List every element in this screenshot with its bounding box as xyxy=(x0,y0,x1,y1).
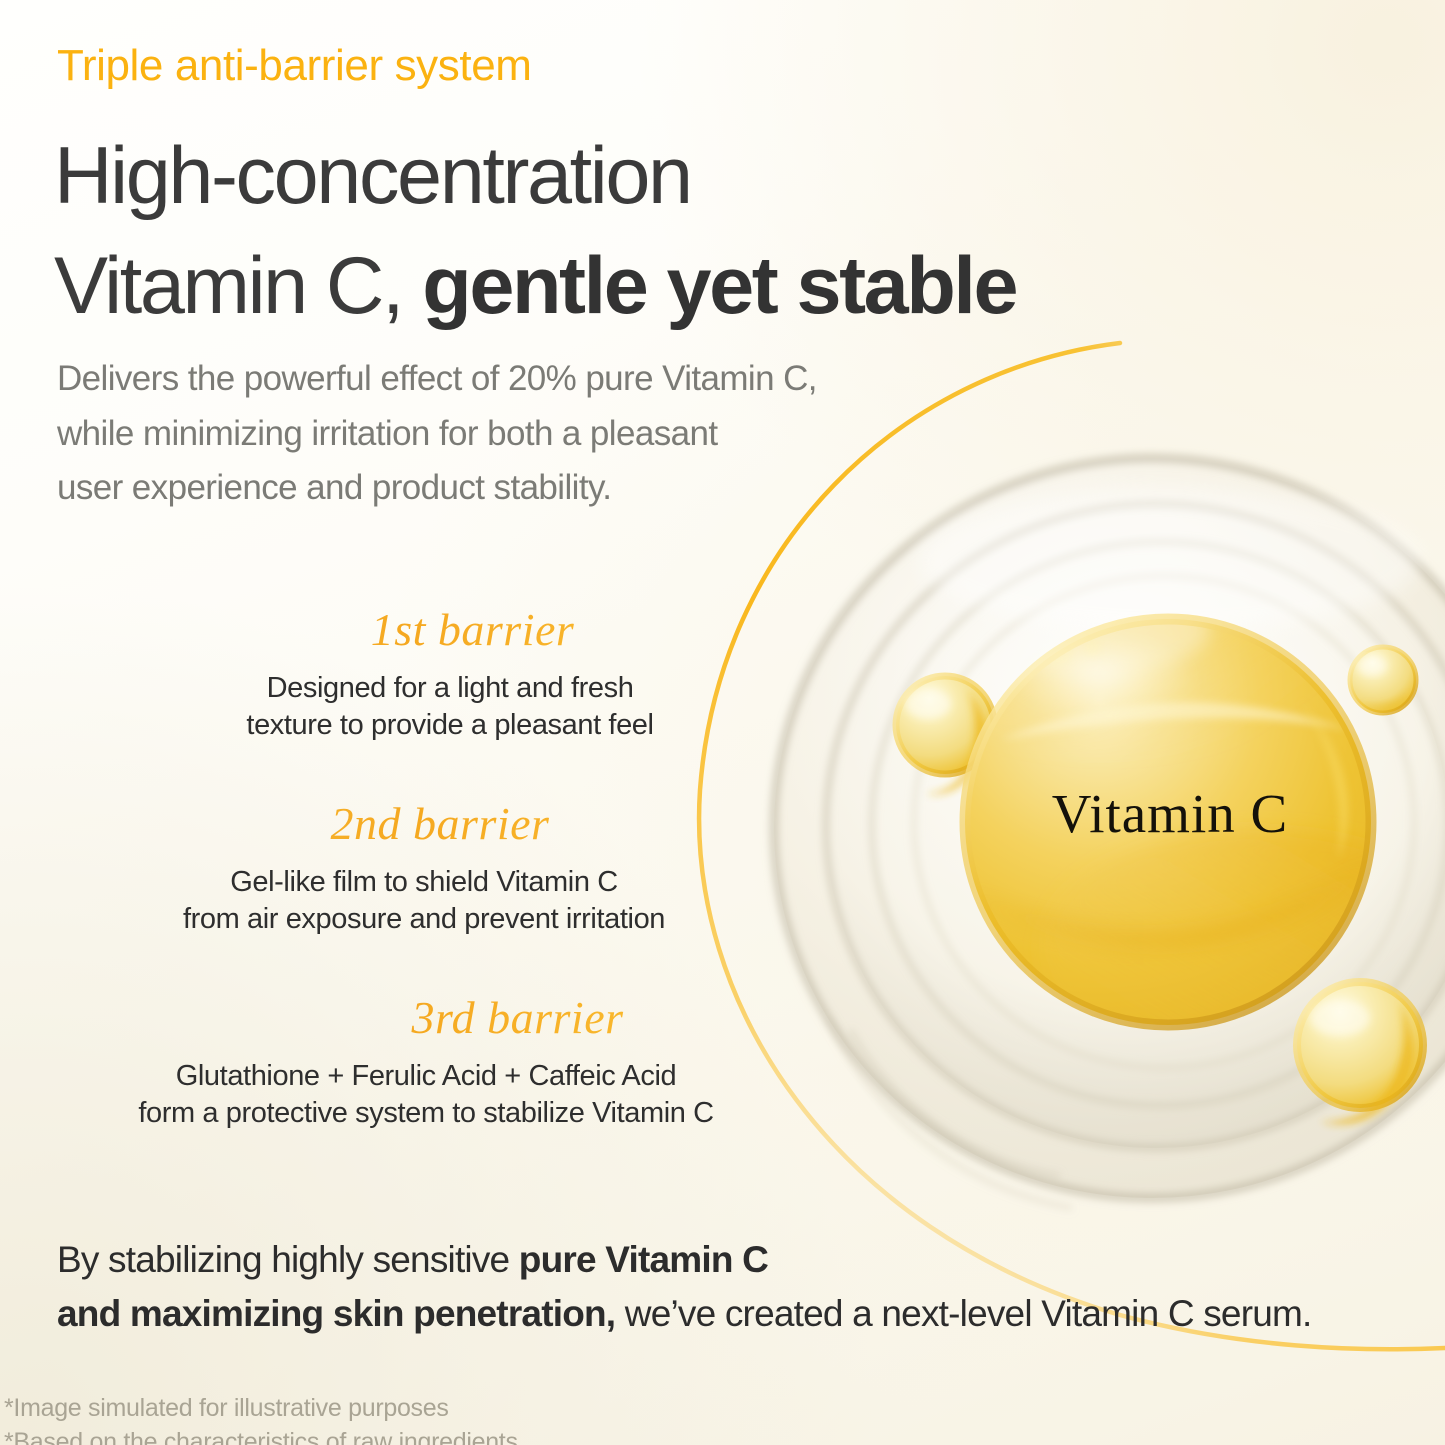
barrier-2-desc: Gel-like film to shield Vitamin Cfrom ai… xyxy=(110,864,730,937)
closing-lead: By stabilizing highly sensitive xyxy=(57,1239,519,1280)
page-background: Vitamin C Triple anti-barrier system Hig… xyxy=(0,0,1445,1445)
barrier-block-2: 2nd barrier Gel-like film to shield Vita… xyxy=(110,797,730,937)
footnotes: *Image simulated for illustrative purpos… xyxy=(4,1392,518,1445)
headline-bold: gentle yet stable xyxy=(422,241,1016,331)
barrier-block-3: 3rd barrier Glutathione + Ferulic Acid +… xyxy=(110,991,730,1131)
subcopy-text: Delivers the powerful effect of 20% pure… xyxy=(57,352,817,516)
barrier-2-title: 2nd barrier xyxy=(110,797,730,850)
barrier-3-title: 3rd barrier xyxy=(110,991,730,1044)
eyebrow-text: Triple anti-barrier system xyxy=(57,41,532,91)
barrier-block-1: 1st barrier Designed for a light and fre… xyxy=(110,603,730,743)
barrier-1-desc: Designed for a light and freshtexture to… xyxy=(110,670,730,743)
closing-tail: we’ve created a next-level Vitamin C ser… xyxy=(615,1293,1311,1334)
closing-statement: By stabilizing highly sensitive pure Vit… xyxy=(57,1233,1312,1340)
barrier-3-desc: Glutathione + Ferulic Acid + Caffeic Aci… xyxy=(110,1058,730,1131)
page-title: High-concentrationVitamin C, gentle yet … xyxy=(54,121,1016,341)
barrier-1-title: 1st barrier xyxy=(110,603,730,656)
